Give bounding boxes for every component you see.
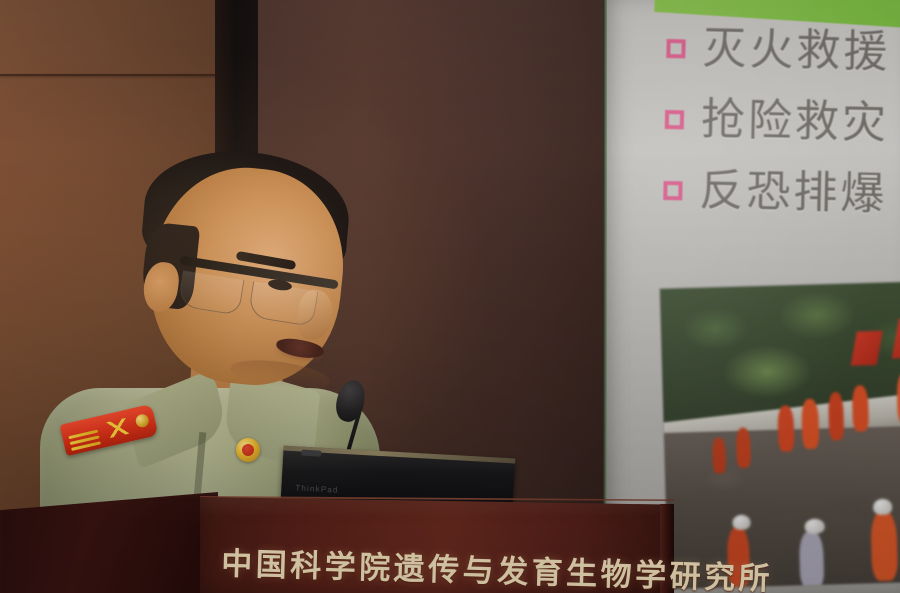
photo-rescuer <box>852 385 869 431</box>
slide-bullet-text: 灭火救援 <box>702 27 891 76</box>
slide-bullet-row: 灭火救援 <box>666 26 900 77</box>
slide-bullet-text: 抢险救灾 <box>700 98 889 147</box>
photo-helmet <box>804 518 824 534</box>
hollow-square-bullet-icon <box>666 39 685 58</box>
projection-screen: 灭火救援 抢险救灾 反恐排爆 <box>607 0 900 593</box>
laptop-hinge <box>301 450 321 457</box>
slide-bullet-row: 抢险救灾 <box>664 97 900 148</box>
rank-star-emblem-icon <box>106 418 129 438</box>
photo-helmet <box>873 499 892 516</box>
slide-bullet-row: 反恐排爆 <box>663 168 900 219</box>
slide-bullet-text: 反恐排爆 <box>699 169 888 218</box>
wall-seam-line <box>0 74 232 76</box>
hollow-square-bullet-icon <box>665 110 684 129</box>
laptop-brand-logo: ThinkPad <box>295 483 339 494</box>
presentation-photo-scene: 灭火救援 抢险救灾 反恐排爆 <box>0 0 900 593</box>
photo-helmet <box>732 515 750 530</box>
photo-rescuer <box>801 399 819 449</box>
collar-pin-badge <box>236 438 260 462</box>
shoulder-board-button <box>134 413 150 429</box>
hollow-square-bullet-icon <box>663 181 682 200</box>
slide-bullet-list: 灭火救援 抢险救灾 反恐排爆 <box>662 26 900 245</box>
photo-rescuer <box>736 428 751 468</box>
photo-rescuer <box>828 392 844 440</box>
photo-rescuer <box>870 510 898 581</box>
photo-rescuer <box>712 437 726 473</box>
photo-rescuer <box>777 405 794 451</box>
photo-bystander <box>799 531 825 589</box>
slide-rescue-photo <box>660 281 900 589</box>
